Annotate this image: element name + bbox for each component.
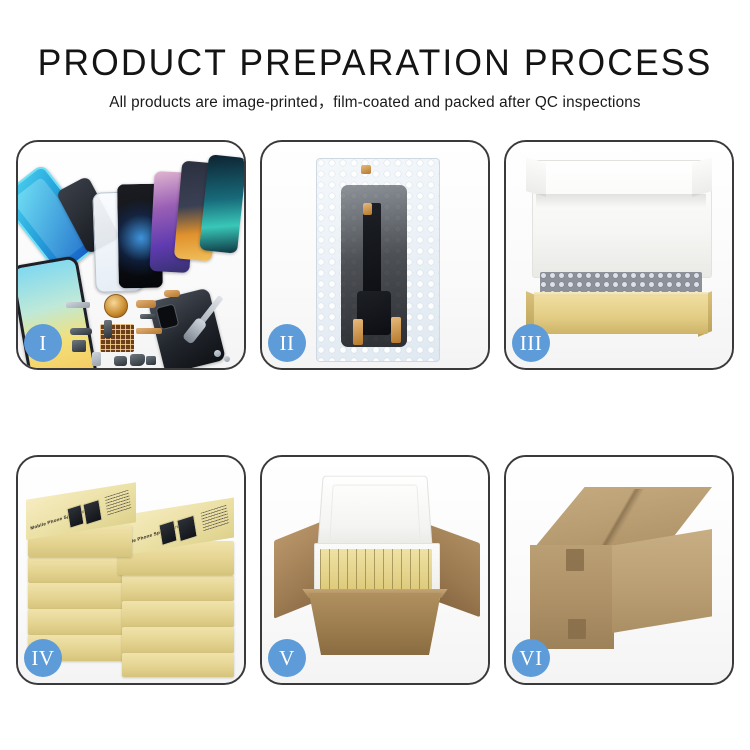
step-badge-4: IV [24, 639, 62, 677]
stacked-box-item [122, 653, 234, 677]
stacked-box-item [122, 575, 234, 601]
connector-part-icon [136, 300, 156, 308]
process-step-panel-6: VI [504, 455, 734, 685]
sim-tray-icon [92, 352, 101, 366]
stacked-box-item [28, 557, 132, 583]
step-badge-5: V [268, 639, 306, 677]
foam-lid-icon [317, 476, 433, 552]
gold-contact-icon [391, 317, 401, 343]
carton-tape-icon [566, 549, 584, 571]
box-screen-image [82, 499, 102, 526]
small-part-icon [70, 328, 92, 335]
process-step-panel-2: II [260, 140, 490, 370]
page-title: PRODUCT PREPARATION PROCESS [15, 42, 735, 84]
carton-tape-icon [568, 619, 586, 639]
lid-fold-right-icon [692, 157, 712, 197]
box-spec-lines [105, 490, 132, 516]
process-step-panel-5: V [260, 455, 490, 685]
kraft-box-front-icon [534, 296, 708, 334]
screw-icon [224, 356, 230, 362]
box-screen-image [158, 520, 177, 546]
packed-yellow-boxes-icon [320, 549, 432, 591]
flex-cable-icon [136, 328, 162, 334]
stacked-box-item [28, 583, 132, 609]
stacked-box-item [122, 627, 234, 653]
gold-contact-icon [353, 319, 363, 345]
step-badge-3: III [512, 324, 550, 362]
carton-front-icon [300, 593, 450, 655]
lid-shadow [536, 194, 706, 208]
small-part-icon [164, 290, 180, 297]
step-badge-1: I [24, 324, 62, 362]
screw-icon [214, 350, 221, 357]
carton-right-face-icon [612, 529, 712, 633]
gold-contact-icon [361, 165, 371, 174]
process-step-panel-4: Mobile Phone Spare Parts Mobile Phone Sp… [16, 455, 246, 685]
process-step-panel-1: I [16, 140, 246, 370]
lid-fold-left-icon [526, 157, 546, 197]
small-part-icon [146, 356, 156, 365]
gold-contact-icon [363, 203, 372, 215]
page-subtitle: All products are image-printed，film-coat… [0, 90, 750, 112]
small-part-icon [140, 314, 156, 319]
box-screen-image [66, 504, 84, 529]
stacked-box-item [122, 601, 234, 627]
small-part-icon [130, 354, 145, 366]
small-part-icon [72, 340, 86, 352]
white-box-lid-icon [532, 160, 712, 278]
step-badge-2: II [268, 324, 306, 362]
small-part-icon [104, 320, 112, 338]
copper-coil-icon [104, 294, 128, 318]
small-part-icon [66, 302, 90, 308]
process-step-panel-3: III [504, 140, 734, 370]
process-step-grid: I II III [16, 140, 734, 685]
small-part-icon [114, 356, 127, 366]
box-screen-image [176, 515, 197, 543]
step-badge-6: VI [512, 639, 550, 677]
bubble-wrap-bag-icon [316, 158, 440, 362]
stacked-box-item [28, 609, 132, 635]
box-spec-lines [201, 505, 230, 532]
page-header: PRODUCT PREPARATION PROCESS All products… [0, 0, 750, 130]
